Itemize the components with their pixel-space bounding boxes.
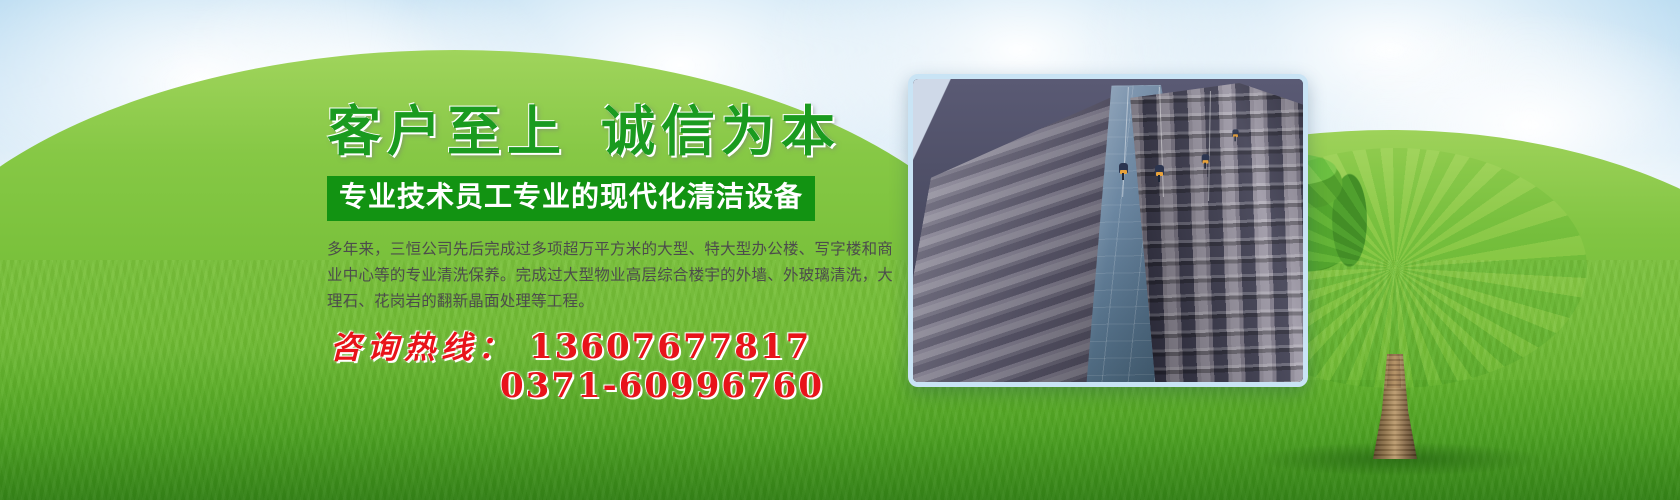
hotline-landline-number[interactable]: 0371-60996760 bbox=[500, 366, 824, 406]
skyscraper-photo bbox=[913, 79, 1303, 382]
hotline-mobile-number[interactable]: 13607677817 bbox=[529, 327, 811, 367]
window-cleaner-worker bbox=[1119, 163, 1128, 179]
hero-banner: 客户至上诚信为本 专业技术员工专业的现代化清洁设备 多年来，三恒公司先后完成过多… bbox=[0, 0, 1680, 500]
window-cleaner-worker bbox=[1232, 129, 1238, 140]
worker-legs bbox=[1234, 136, 1235, 141]
worker-legs bbox=[1158, 175, 1160, 182]
hotline-label: 咨询热线： bbox=[330, 330, 515, 366]
description-paragraph: 多年来，三恒公司先后完成过多项超万平方米的大型、特大型办公楼、写字楼和商业中心等… bbox=[327, 236, 893, 314]
tower-right-shading bbox=[1129, 79, 1303, 382]
headline-part-2: 诚信为本 bbox=[601, 100, 841, 163]
worker-legs bbox=[1204, 163, 1206, 169]
window-cleaner-worker bbox=[1202, 154, 1210, 168]
headline-part-1: 客户至上 bbox=[327, 100, 567, 163]
building-photo-card[interactable] bbox=[908, 74, 1308, 387]
worker-legs bbox=[1122, 173, 1124, 180]
window-cleaner-worker bbox=[1155, 165, 1164, 181]
subtitle-bar: 专业技术员工专业的现代化清洁设备 bbox=[327, 176, 815, 221]
headline: 客户至上诚信为本 bbox=[327, 104, 841, 161]
hotline-row: 咨询热线：13607677817 bbox=[330, 322, 811, 367]
